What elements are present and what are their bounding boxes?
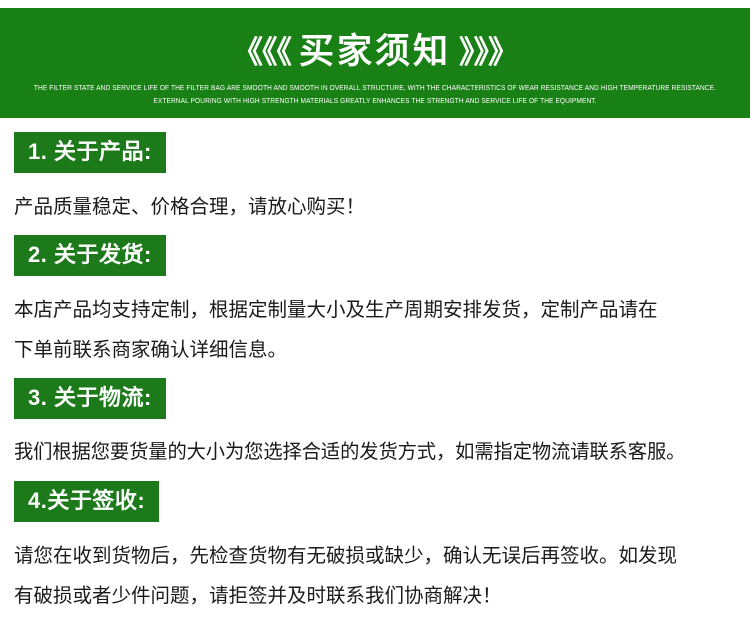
- section-body-1: 产品质量稳定、价格合理，请放心购买！: [0, 173, 750, 227]
- section-about-product: 1. 关于产品: 产品质量稳定、价格合理，请放心购买！: [0, 132, 750, 227]
- body-line: 本店产品均支持定制，根据定制量大小及生产周期安排发货，定制产品请在: [0, 290, 750, 330]
- body-line: 下单前联系商家确认详细信息。: [0, 330, 750, 370]
- section-about-receipt: 4.关于签收: 请您在收到货物后，先检查货物有无破损或缺少，确认无误后再签收。如…: [0, 481, 750, 616]
- notice-content: 1. 关于产品: 产品质量稳定、价格合理，请放心购买！ 2. 关于发货: 本店产…: [0, 118, 750, 616]
- banner-subtitle-line-2: EXTERNAL POURING WITH HIGH STRENGTH MATE…: [23, 95, 728, 108]
- banner-title: 《《《买家须知》》》: [0, 8, 750, 69]
- section-about-shipping: 2. 关于发货: 本店产品均支持定制，根据定制量大小及生产周期安排发货，定制产品…: [0, 235, 750, 370]
- spacer: [0, 370, 750, 378]
- section-heading-4: 4.关于签收:: [14, 481, 159, 522]
- body-line: 请您在收到货物后，先检查货物有无破损或缺少，确认无误后再签收。如发现: [0, 536, 750, 576]
- page-banner: 《《《买家须知》》》 THE FILTER STATE AND SERVICE …: [0, 8, 750, 118]
- section-body-3: 我们根据您要货量的大小为您选择合适的发货方式，如需指定物流请联系客服。: [0, 419, 750, 473]
- section-heading-1: 1. 关于产品:: [14, 132, 166, 173]
- body-line: 我们根据您要货量的大小为您选择合适的发货方式，如需指定物流请联系客服。: [0, 433, 750, 473]
- spacer: [0, 227, 750, 235]
- banner-title-text: 买家须知: [291, 32, 459, 71]
- body-line: 产品质量稳定、价格合理，请放心购买！: [0, 187, 750, 227]
- section-heading-2: 2. 关于发货:: [14, 235, 166, 276]
- section-body-4: 请您在收到货物后，先检查货物有无破损或缺少，确认无误后再签收。如发现 有破损或者…: [0, 522, 750, 616]
- body-line: 有破损或者少件问题，请拒签并及时联系我们协商解决！: [0, 576, 750, 616]
- banner-subtitle-line-1: THE FILTER STATE AND SERVICE LIFE OF THE…: [23, 69, 728, 95]
- spacer: [0, 473, 750, 481]
- section-body-2: 本店产品均支持定制，根据定制量大小及生产周期安排发货，定制产品请在 下单前联系商…: [0, 276, 750, 370]
- chevron-right-icon: 》》》: [459, 35, 518, 70]
- spacer: [0, 118, 750, 132]
- chevron-left-icon: 《《《: [232, 35, 291, 70]
- section-about-logistics: 3. 关于物流: 我们根据您要货量的大小为您选择合适的发货方式，如需指定物流请联…: [0, 378, 750, 473]
- section-heading-3: 3. 关于物流:: [14, 378, 166, 419]
